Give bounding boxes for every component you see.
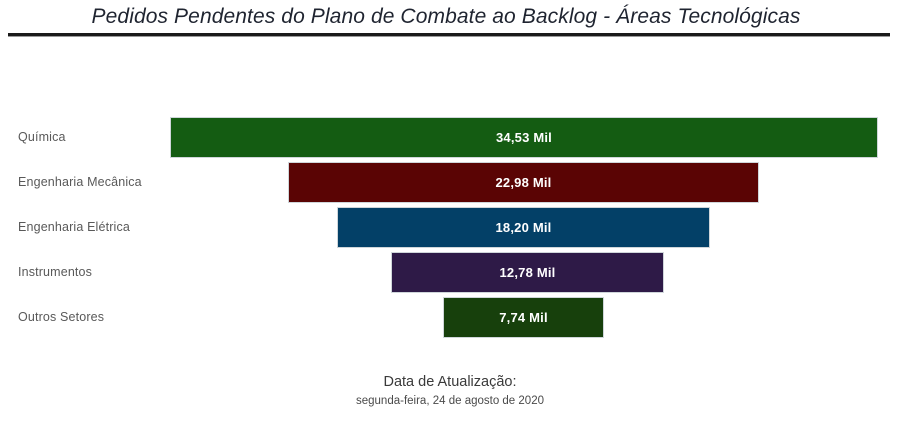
funnel-bar[interactable]: 22,98 Mil — [288, 162, 759, 203]
update-date: segunda-feira, 24 de agosto de 2020 — [0, 392, 900, 410]
funnel-bar[interactable]: 7,74 Mil — [443, 297, 604, 338]
funnel-row: Engenharia Elétrica18,20 Mil — [0, 207, 900, 248]
bar-value-label: 22,98 Mil — [496, 175, 552, 190]
bar-value-label: 34,53 Mil — [496, 130, 552, 145]
funnel-bar[interactable]: 12,78 Mil — [391, 252, 664, 293]
category-label: Engenharia Elétrica — [18, 207, 130, 248]
funnel-row: Outros Setores7,74 Mil — [0, 297, 900, 338]
category-label: Outros Setores — [18, 297, 104, 338]
bar-value-label: 12,78 Mil — [500, 265, 556, 280]
category-label: Engenharia Mecânica — [18, 162, 142, 203]
funnel-row: Engenharia Mecânica22,98 Mil — [0, 162, 900, 203]
category-label: Instrumentos — [18, 252, 92, 293]
funnel-chart-root: Pedidos Pendentes do Plano de Combate ao… — [0, 0, 900, 430]
funnel-row: Instrumentos12,78 Mil — [0, 252, 900, 293]
bar-value-label: 7,74 Mil — [499, 310, 548, 325]
update-label: Data de Atualização: — [0, 372, 900, 392]
funnel-bar[interactable]: 18,20 Mil — [337, 207, 710, 248]
funnel-body: Química34,53 MilEngenharia Mecânica22,98… — [0, 0, 900, 430]
bar-value-label: 18,20 Mil — [496, 220, 552, 235]
funnel-row: Química34,53 Mil — [0, 117, 900, 158]
category-label: Química — [18, 117, 66, 158]
footer-block: Data de Atualização: segunda-feira, 24 d… — [0, 372, 900, 410]
funnel-bar[interactable]: 34,53 Mil — [170, 117, 878, 158]
